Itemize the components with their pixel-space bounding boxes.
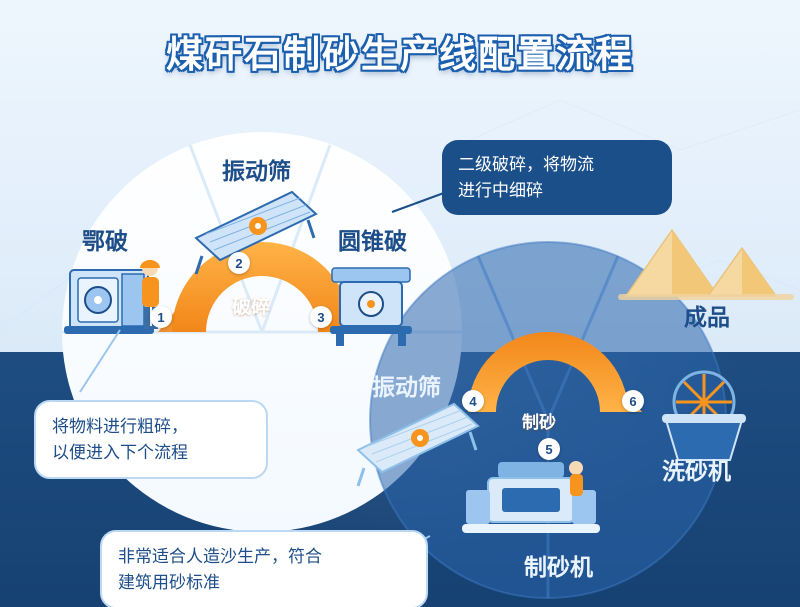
step-badge-3: 3 (310, 306, 332, 328)
label-cone-crusher: 圆锥破 (338, 222, 407, 256)
step-badge-4: 4 (462, 390, 484, 412)
callout-coarse-crush-line1: 将物料进行粗碎， (52, 414, 250, 440)
wheel-graphics (0, 0, 800, 607)
callout-secondary-crush-line1: 二级破碎，将物流 (458, 152, 656, 178)
sand-pile-icon (618, 230, 794, 300)
label-finished-product: 成品 (684, 298, 730, 332)
callout-coarse-crush: 将物料进行粗碎， 以便进入下个流程 (34, 400, 268, 479)
callout-coarse-crush-line2: 以便进入下个流程 (52, 440, 250, 466)
step-badge-1: 1 (150, 306, 172, 328)
infographic-canvas: 煤矸石制砂生产线配置流程 (0, 0, 800, 607)
step-badge-6: 6 (622, 390, 644, 412)
step-badge-2: 2 (228, 252, 250, 274)
callout-artificial-sand: 非常适合人造沙生产，符合 建筑用砂标准 (100, 530, 428, 607)
callout-secondary-crush: 二级破碎，将物流 进行中细碎 (442, 140, 672, 215)
label-vibrating-screen-top: 振动筛 (222, 152, 291, 186)
label-sand-washer: 洗砂机 (662, 452, 731, 486)
callout-secondary-crush-line2: 进行中细碎 (458, 178, 656, 204)
callout-artificial-sand-line1: 非常适合人造沙生产，符合 (118, 544, 410, 570)
label-vibrating-screen-bottom: 振动筛 (372, 368, 441, 402)
jaw-crusher-icon (64, 270, 154, 334)
ribbon-label-sand: 制砂 (522, 408, 556, 433)
ribbon-label-crush: 破碎 (232, 292, 270, 319)
callout-artificial-sand-line2: 建筑用砂标准 (118, 570, 410, 596)
label-jaw-crusher: 鄂破 (82, 222, 128, 256)
step-badge-5: 5 (538, 438, 560, 460)
label-sand-maker: 制砂机 (524, 548, 593, 582)
